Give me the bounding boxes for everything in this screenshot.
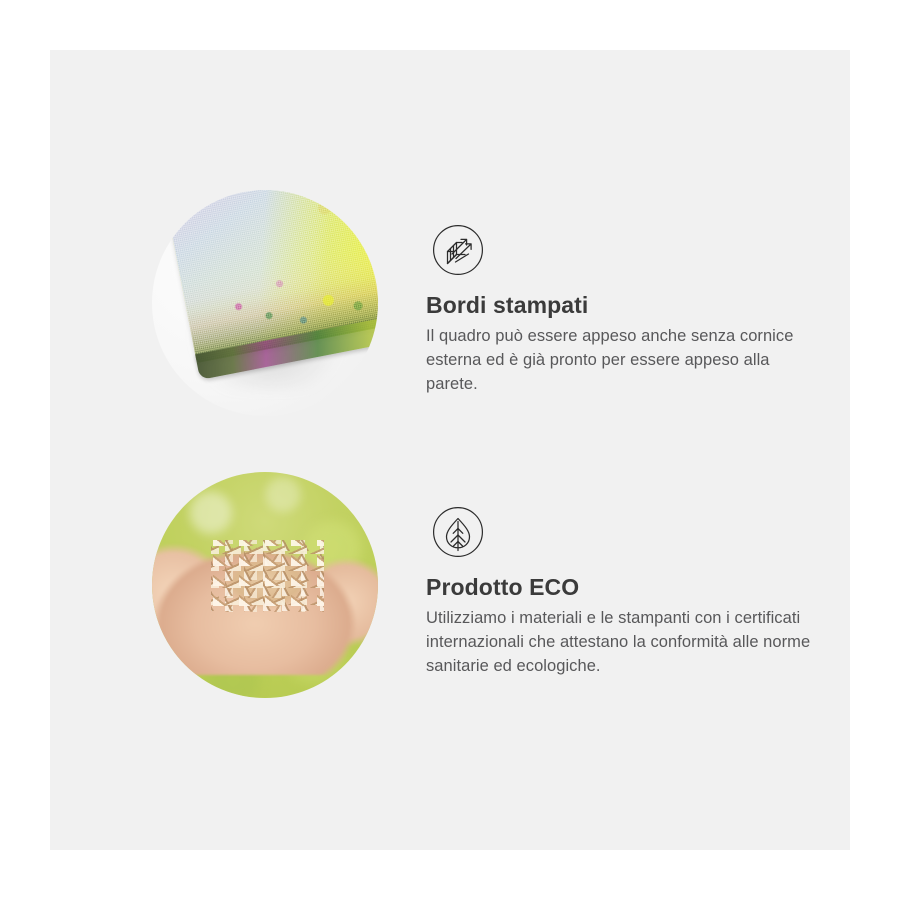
- printed-edges-icon: [432, 224, 484, 276]
- wood-chips-pile: [211, 540, 324, 612]
- printed-edges-text: Bordi stampati Il quadro può essere appe…: [426, 290, 818, 396]
- feature-title: Bordi stampati: [426, 290, 818, 320]
- feature-description: Utilizziamo i materiali e le stampanti c…: [426, 606, 818, 678]
- content-panel: Bordi stampati Il quadro può essere appe…: [50, 50, 850, 850]
- feature-description: Il quadro può essere appeso anche senza …: [426, 324, 818, 396]
- wood-chips-detail: [211, 540, 324, 612]
- eco-product-text: Prodotto ECO Utilizziamo i materiali e l…: [426, 572, 818, 678]
- hands-holding-wood-chips-photo: [152, 472, 378, 698]
- feature-block-printed-edges: Bordi stampati Il quadro può essere appe…: [50, 190, 850, 416]
- feature-title: Prodotto ECO: [426, 572, 818, 602]
- canvas-print-corner-photo: [152, 190, 378, 416]
- feature-block-eco-product: Prodotto ECO Utilizziamo i materiali e l…: [50, 472, 850, 698]
- leaf-icon: [432, 506, 484, 558]
